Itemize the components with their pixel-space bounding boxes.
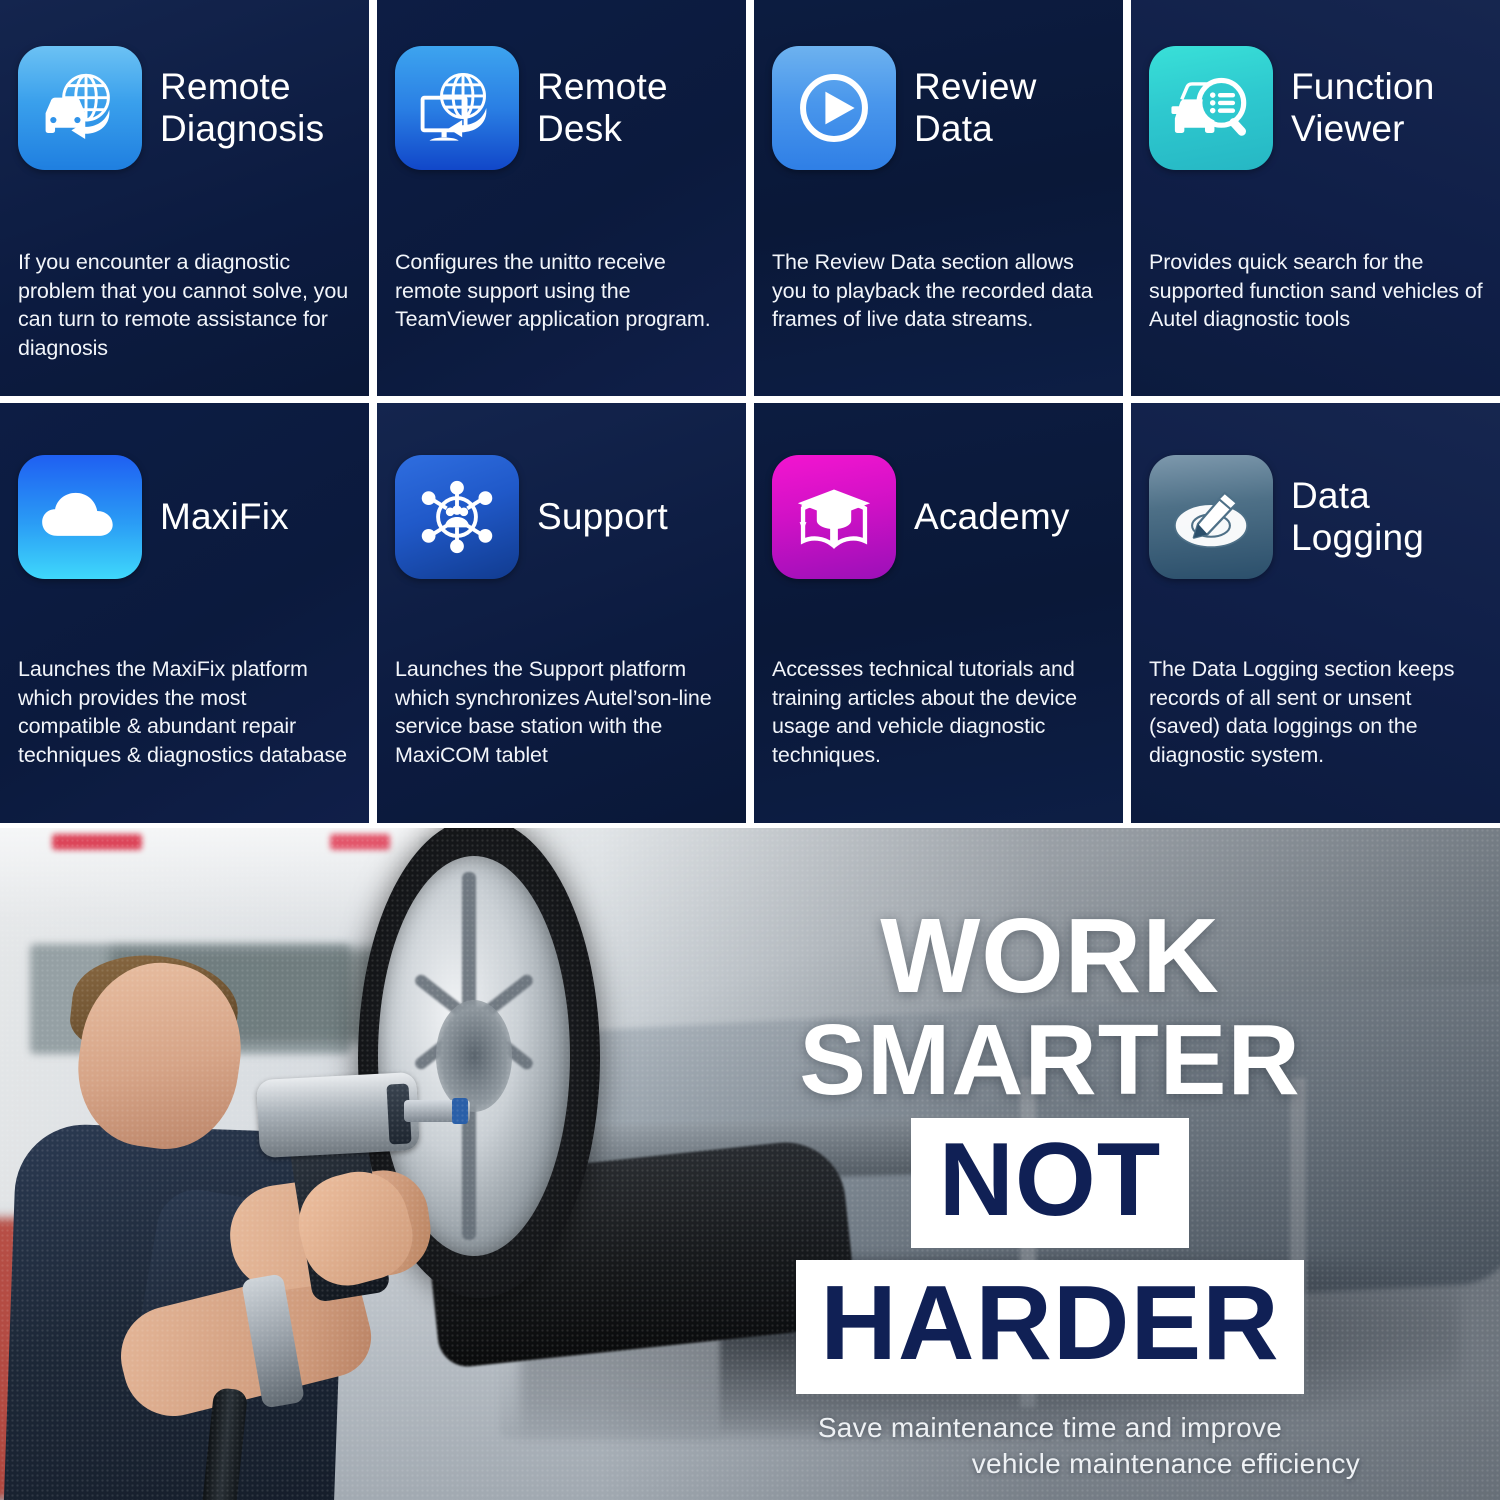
feature-card-support[interactable]: Support Launches the Support platform wh… bbox=[377, 403, 746, 823]
feature-description: If you encounter a diagnostic problem th… bbox=[18, 248, 355, 362]
hero-headline-block: WORK SMARTER NOT HARDER Save maintenance… bbox=[740, 906, 1360, 1481]
feature-card-remote-diagnosis[interactable]: Remote Diagnosis If you encounter a diag… bbox=[0, 0, 369, 396]
feature-title: MaxiFix bbox=[160, 496, 289, 538]
play-circle-icon[interactable] bbox=[772, 46, 896, 170]
headline-smarter: SMARTER bbox=[740, 1012, 1360, 1108]
feature-card-maxifix[interactable]: MaxiFix Launches the MaxiFix platform wh… bbox=[0, 403, 369, 823]
feature-card-function-viewer[interactable]: Function Viewer Provides quick search fo… bbox=[1131, 0, 1500, 396]
feature-card-data-logging[interactable]: Data Logging The Data Logging section ke… bbox=[1131, 403, 1500, 823]
feature-title: Remote Desk bbox=[537, 66, 728, 150]
feature-title: Function Viewer bbox=[1291, 66, 1482, 150]
hero-subtitle-line-1: Save maintenance time and improve bbox=[740, 1410, 1360, 1446]
hero-subtitle: Save maintenance time and improve vehicl… bbox=[740, 1410, 1360, 1482]
feature-header: Remote Desk bbox=[377, 0, 746, 170]
feature-header: Remote Diagnosis bbox=[0, 0, 369, 170]
feature-header: Review Data bbox=[754, 0, 1123, 170]
pencil-disc-icon[interactable] bbox=[1149, 455, 1273, 579]
feature-header: Support bbox=[377, 403, 746, 579]
feature-description: The Review Data section allows you to pl… bbox=[772, 248, 1109, 334]
feature-card-remote-desk[interactable]: Remote Desk Configures the unitto receiv… bbox=[377, 0, 746, 396]
feature-header: Function Viewer bbox=[1131, 0, 1500, 170]
promo-page: Remote Diagnosis If you encounter a diag… bbox=[0, 0, 1500, 1500]
feature-header: Data Logging bbox=[1131, 403, 1500, 579]
feature-header: MaxiFix bbox=[0, 403, 369, 579]
feature-card-review-data[interactable]: Review Data The Review Data section allo… bbox=[754, 0, 1123, 396]
feature-description: Provides quick search for the supported … bbox=[1149, 248, 1486, 334]
feature-description: Accesses technical tutorials and trainin… bbox=[772, 655, 1109, 769]
feature-title: Remote Diagnosis bbox=[160, 66, 351, 150]
feature-header: Academy bbox=[754, 403, 1123, 579]
feature-description: Configures the unitto receive remote sup… bbox=[395, 248, 732, 334]
globe-monitor-icon[interactable] bbox=[395, 46, 519, 170]
headline-harder: HARDER bbox=[796, 1260, 1303, 1394]
hero-subtitle-line-2: vehicle maintenance efficiency bbox=[740, 1446, 1360, 1482]
globe-car-icon[interactable] bbox=[18, 46, 142, 170]
feature-description: Launches the MaxiFix platform which prov… bbox=[18, 655, 355, 769]
headline-work: WORK bbox=[740, 906, 1360, 1008]
graduation-book-icon[interactable] bbox=[772, 455, 896, 579]
headline-not: NOT bbox=[911, 1118, 1190, 1248]
network-people-icon[interactable] bbox=[395, 455, 519, 579]
car-search-list-icon[interactable] bbox=[1149, 46, 1273, 170]
feature-title: Review Data bbox=[914, 66, 1105, 150]
hero-banner: WORK SMARTER NOT HARDER Save maintenance… bbox=[0, 828, 1500, 1500]
feature-title: Academy bbox=[914, 496, 1070, 538]
feature-card-academy[interactable]: Academy Accesses technical tutorials and… bbox=[754, 403, 1123, 823]
feature-description: Launches the Support platform which sync… bbox=[395, 655, 732, 769]
cloud-icon[interactable] bbox=[18, 455, 142, 579]
feature-title: Data Logging bbox=[1291, 475, 1482, 559]
feature-grid: Remote Diagnosis If you encounter a diag… bbox=[0, 0, 1500, 824]
feature-title: Support bbox=[537, 496, 668, 538]
feature-description: The Data Logging section keeps records o… bbox=[1149, 655, 1486, 769]
